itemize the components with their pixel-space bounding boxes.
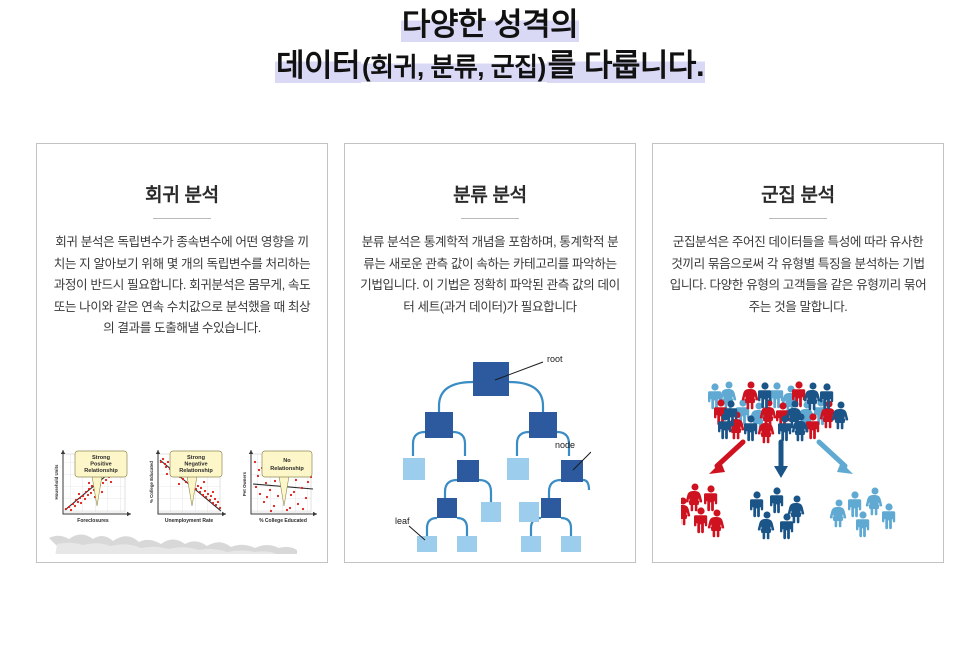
- svg-text:Pet Owners: Pet Owners: [242, 471, 247, 496]
- cluster-mixed-crowd: [708, 381, 848, 443]
- card-classification-body: 분류 분석은 통계학적 개념을 포함하며, 통계학적 분류는 새로운 관측 값이…: [345, 232, 635, 318]
- cluster-people-figure: [681, 370, 917, 550]
- decision-tree-figure: root node leaf: [395, 356, 591, 552]
- ground-shadow: [49, 535, 297, 555]
- svg-text:Positive: Positive: [90, 462, 111, 468]
- svg-text:% College Educated: % College Educated: [259, 518, 307, 524]
- card-classification-divider: [461, 218, 519, 219]
- cluster-group-red: [681, 484, 724, 538]
- card-row: 회귀 분석 회귀 분석은 독립변수가 종속변수에 어떤 영향을 끼치는 지 알아…: [0, 143, 980, 565]
- tree-internal-node: [425, 412, 453, 438]
- cluster-arrow-light-blue: [819, 442, 853, 474]
- tree-leaf-node: [417, 536, 437, 552]
- svg-text:Relationship: Relationship: [84, 468, 118, 474]
- tree-leaf-node: [481, 502, 501, 522]
- svg-text:Foreclosures: Foreclosures: [77, 518, 109, 524]
- tree-leaf-node: [521, 536, 541, 552]
- tree-leaf-node: [457, 536, 477, 552]
- svg-text:Unemployment Rate: Unemployment Rate: [165, 518, 214, 524]
- tree-internal-node: [529, 412, 557, 438]
- svg-text:Strong: Strong: [187, 455, 206, 461]
- card-regression-body: 회귀 분석은 독립변수가 종속변수에 어떤 영향을 끼치는 지 알아보기 위해 …: [37, 232, 327, 340]
- cluster-group-dark-blue: [750, 487, 804, 539]
- card-clustering: 군집 분석 군집분석은 주어진 데이터들을 특성에 따라 유사한 것끼리 묶음으…: [652, 143, 944, 563]
- svg-text:Relationship: Relationship: [179, 468, 213, 474]
- tree-label-node: node: [555, 440, 575, 450]
- title-line-2: 데이터(회귀, 분류, 군집)를 다룹니다.: [0, 45, 980, 88]
- svg-text:Negative: Negative: [184, 462, 207, 468]
- scatter-plot-negative: Strong Negative Relationship Unemploymen…: [149, 450, 226, 524]
- title-line-1: 다양한 성격의: [0, 4, 980, 45]
- tree-label-leaf: leaf: [395, 516, 410, 526]
- cluster-group-light-blue: [830, 488, 895, 538]
- card-regression-divider: [153, 218, 211, 219]
- cluster-arrow-dark-blue: [774, 442, 788, 478]
- cluster-arrow-red: [709, 442, 743, 474]
- svg-text:Household Units: Household Units: [54, 464, 59, 499]
- scatter-plot-none: No Relationship % College Educated Pet O…: [242, 450, 317, 524]
- scatter-plot-positive: Strong Positive Relationship Foreclosure…: [54, 450, 131, 524]
- tree-leaf-node: [519, 502, 539, 522]
- tree-internal-node: [541, 498, 561, 518]
- card-classification: 분류 분석 분류 분석은 통계학적 개념을 포함하며, 통계학적 분류는 새로운…: [344, 143, 636, 563]
- svg-text:% College Educated: % College Educated: [149, 461, 154, 503]
- tree-leaf-node: [561, 536, 581, 552]
- title-keyword-data: 데이터: [275, 48, 361, 83]
- svg-text:No: No: [283, 458, 291, 464]
- title-line-1-text: 다양한 성격의: [401, 7, 579, 42]
- tree-leaf-node: [507, 458, 529, 480]
- tree-root-node: [473, 362, 509, 396]
- tree-leaf-node: [403, 458, 425, 480]
- tree-internal-node: [437, 498, 457, 518]
- svg-text:Strong: Strong: [92, 455, 111, 461]
- title-parenthetical: (회귀, 분류, 군집): [361, 52, 547, 82]
- regression-scatter-figure: Strong Positive Relationship Foreclosure…: [45, 426, 319, 554]
- page-title: 다양한 성격의 데이터(회귀, 분류, 군집)를 다룹니다.: [0, 4, 980, 88]
- card-classification-title: 분류 분석: [345, 180, 635, 207]
- card-regression: 회귀 분석 회귀 분석은 독립변수가 종속변수에 어떤 영향을 끼치는 지 알아…: [36, 143, 328, 563]
- tree-internal-node: [457, 460, 479, 482]
- card-clustering-divider: [769, 218, 827, 219]
- svg-text:Relationship: Relationship: [270, 466, 304, 472]
- card-clustering-title: 군집 분석: [653, 180, 943, 207]
- card-clustering-body: 군집분석은 주어진 데이터들을 특성에 따라 유사한 것끼리 묶음으로써 각 유…: [653, 232, 943, 318]
- tree-label-root: root: [547, 356, 563, 364]
- title-line-2-tail: 를 다룹니다.: [547, 48, 705, 83]
- card-regression-title: 회귀 분석: [37, 180, 327, 207]
